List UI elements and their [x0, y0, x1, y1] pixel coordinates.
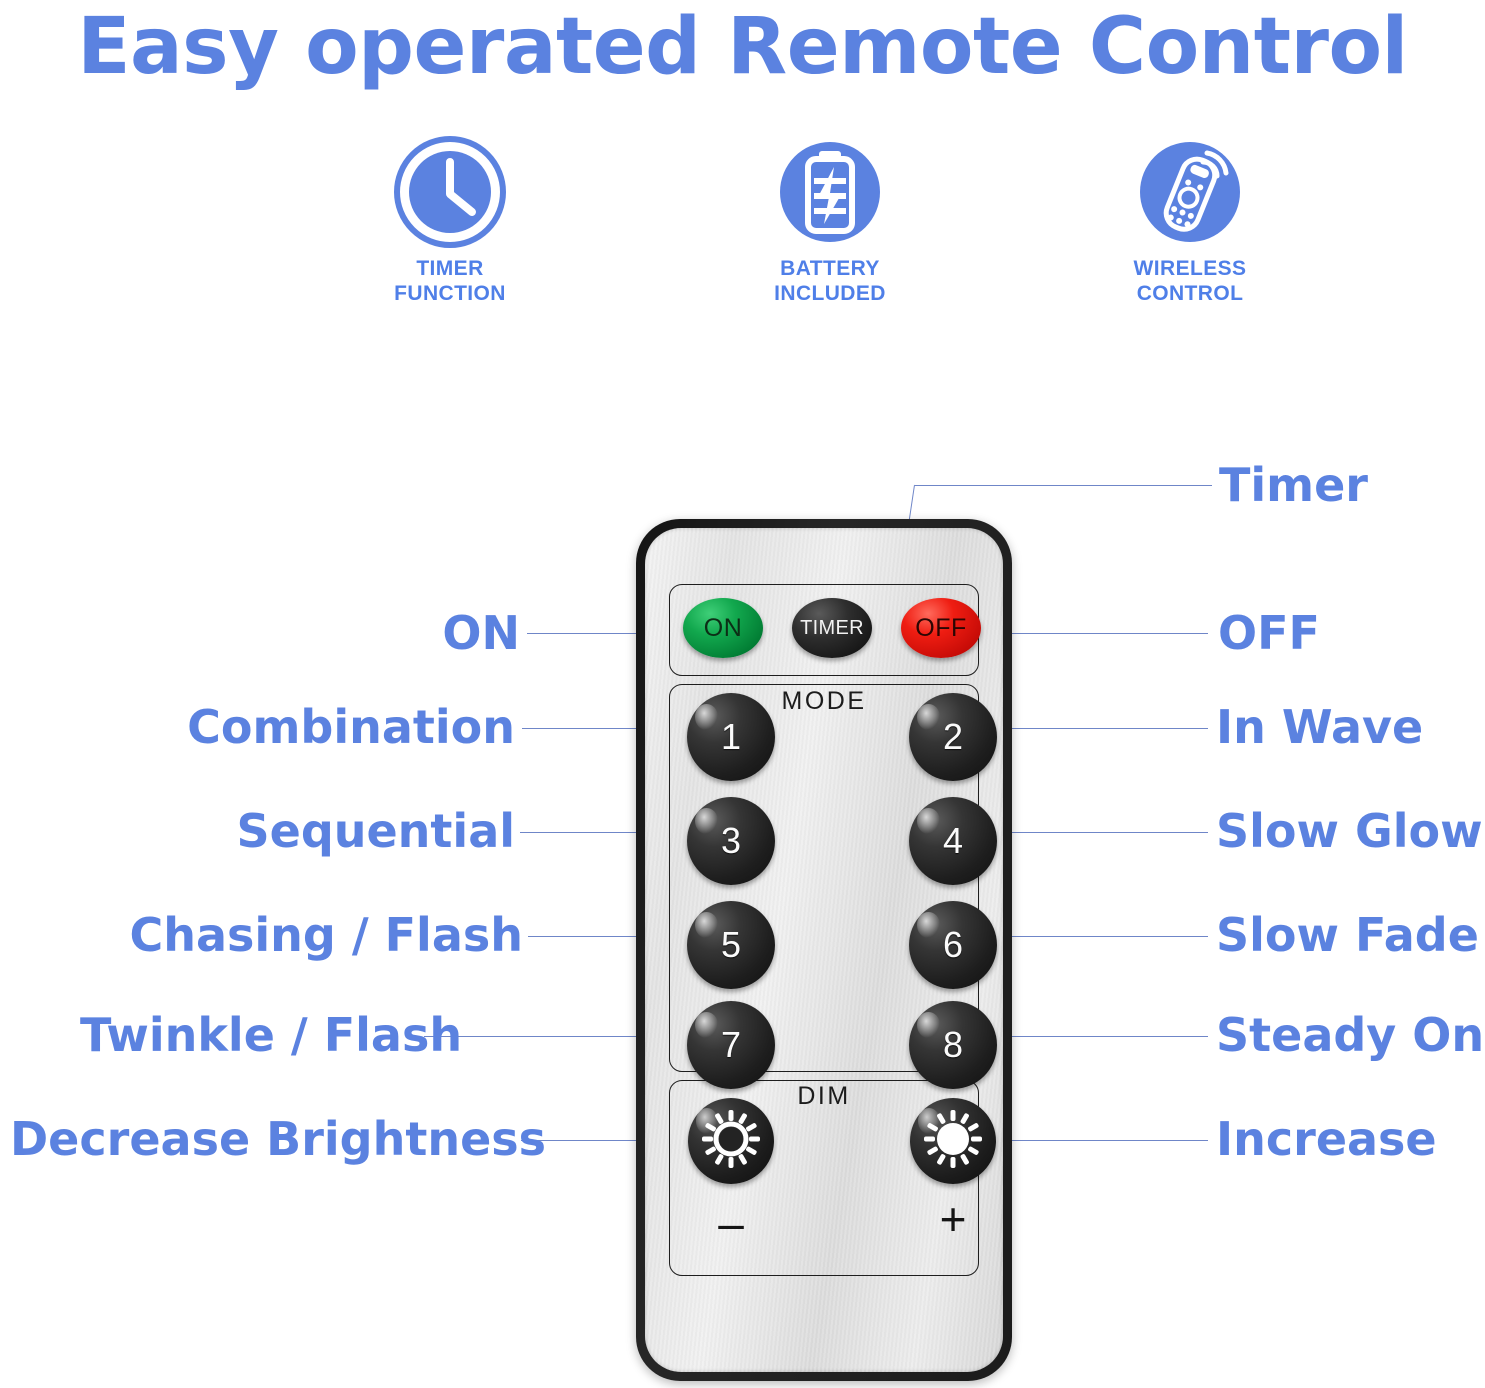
mode-button-8[interactable]: 8 [909, 1001, 997, 1089]
feature-timer-function: TIMER FUNCTION [300, 136, 600, 306]
callout-decrease-brightness: Decrease Brightness [10, 1116, 516, 1162]
feature-caption-line2: CONTROL [1137, 282, 1244, 305]
callout-on: ON [248, 610, 520, 656]
feature-caption-line1: TIMER [416, 257, 483, 280]
callout-timer: Timer [1219, 462, 1368, 508]
sun-increase-icon [922, 1108, 984, 1175]
feature-badge-row: TIMER FUNCTION BATTERY INCLUDED [300, 136, 1360, 316]
infographic-canvas: Easy operated Remote Control TIMER FUNCT… [0, 0, 1485, 1388]
dim-decrease-sign: – [715, 1200, 747, 1246]
off-button-label: OFF [915, 614, 967, 643]
page-title: Easy operated Remote Control [0, 2, 1485, 92]
callout-twinkle-flash: Twinkle / Flash [80, 1012, 419, 1058]
mode-button-5[interactable]: 5 [687, 901, 775, 989]
battery-charge-icon [680, 136, 980, 248]
dim-decrease-button[interactable] [688, 1098, 774, 1184]
mode-button-6[interactable]: 6 [909, 901, 997, 989]
feature-caption: TIMER FUNCTION [300, 256, 600, 306]
callout-off: OFF [1218, 610, 1320, 656]
mode-button-label: 5 [721, 924, 741, 966]
mode-button-3[interactable]: 3 [687, 797, 775, 885]
mode-button-label: 4 [943, 820, 963, 862]
dim-increase-button[interactable] [910, 1098, 996, 1184]
mode-button-label: 1 [721, 716, 741, 758]
mode-button-label: 8 [943, 1024, 963, 1066]
remote-control-device: ON TIMER OFF MODE 1 2 3 4 5 6 [636, 519, 1012, 1381]
on-button[interactable]: ON [683, 598, 763, 658]
feature-wireless-control: WIRELESS CONTROL [1040, 136, 1340, 306]
mode-button-2[interactable]: 2 [909, 693, 997, 781]
on-button-label: ON [704, 614, 743, 643]
feature-battery-included: BATTERY INCLUDED [680, 136, 980, 306]
mode-button-1[interactable]: 1 [687, 693, 775, 781]
callout-chasing-flash: Chasing / Flash [80, 912, 523, 958]
feature-caption-line2: FUNCTION [394, 282, 506, 305]
off-button[interactable]: OFF [901, 598, 981, 658]
mode-button-7[interactable]: 7 [687, 1001, 775, 1089]
mode-button-label: 2 [943, 716, 963, 758]
remote-signal-icon [1040, 136, 1340, 248]
remote-faceplate: ON TIMER OFF MODE 1 2 3 4 5 6 [645, 528, 1003, 1372]
feature-caption: WIRELESS CONTROL [1040, 256, 1340, 306]
callout-increase: Increase [1216, 1116, 1437, 1162]
leader-line-timer-h [915, 485, 1212, 486]
mode-button-4[interactable]: 4 [909, 797, 997, 885]
callout-slow-glow: Slow Glow [1216, 808, 1483, 854]
sun-decrease-icon [700, 1108, 762, 1175]
callout-slow-fade: Slow Fade [1216, 912, 1479, 958]
timer-button[interactable]: TIMER [792, 598, 872, 658]
callout-steady-on: Steady On [1216, 1012, 1484, 1058]
feature-caption-line1: WIRELESS [1134, 257, 1247, 280]
callout-combination: Combination [100, 704, 515, 750]
mode-button-label: 7 [721, 1024, 741, 1066]
dim-increase-sign: + [937, 1196, 969, 1242]
feature-caption-line2: INCLUDED [774, 282, 886, 305]
callout-in-wave: In Wave [1216, 704, 1423, 750]
feature-caption-line1: BATTERY [780, 257, 880, 280]
feature-caption: BATTERY INCLUDED [680, 256, 980, 306]
clock-icon [300, 136, 600, 248]
mode-button-label: 6 [943, 924, 963, 966]
mode-button-label: 3 [721, 820, 741, 862]
callout-sequential: Sequential [100, 808, 515, 854]
timer-button-label: TIMER [800, 617, 864, 640]
